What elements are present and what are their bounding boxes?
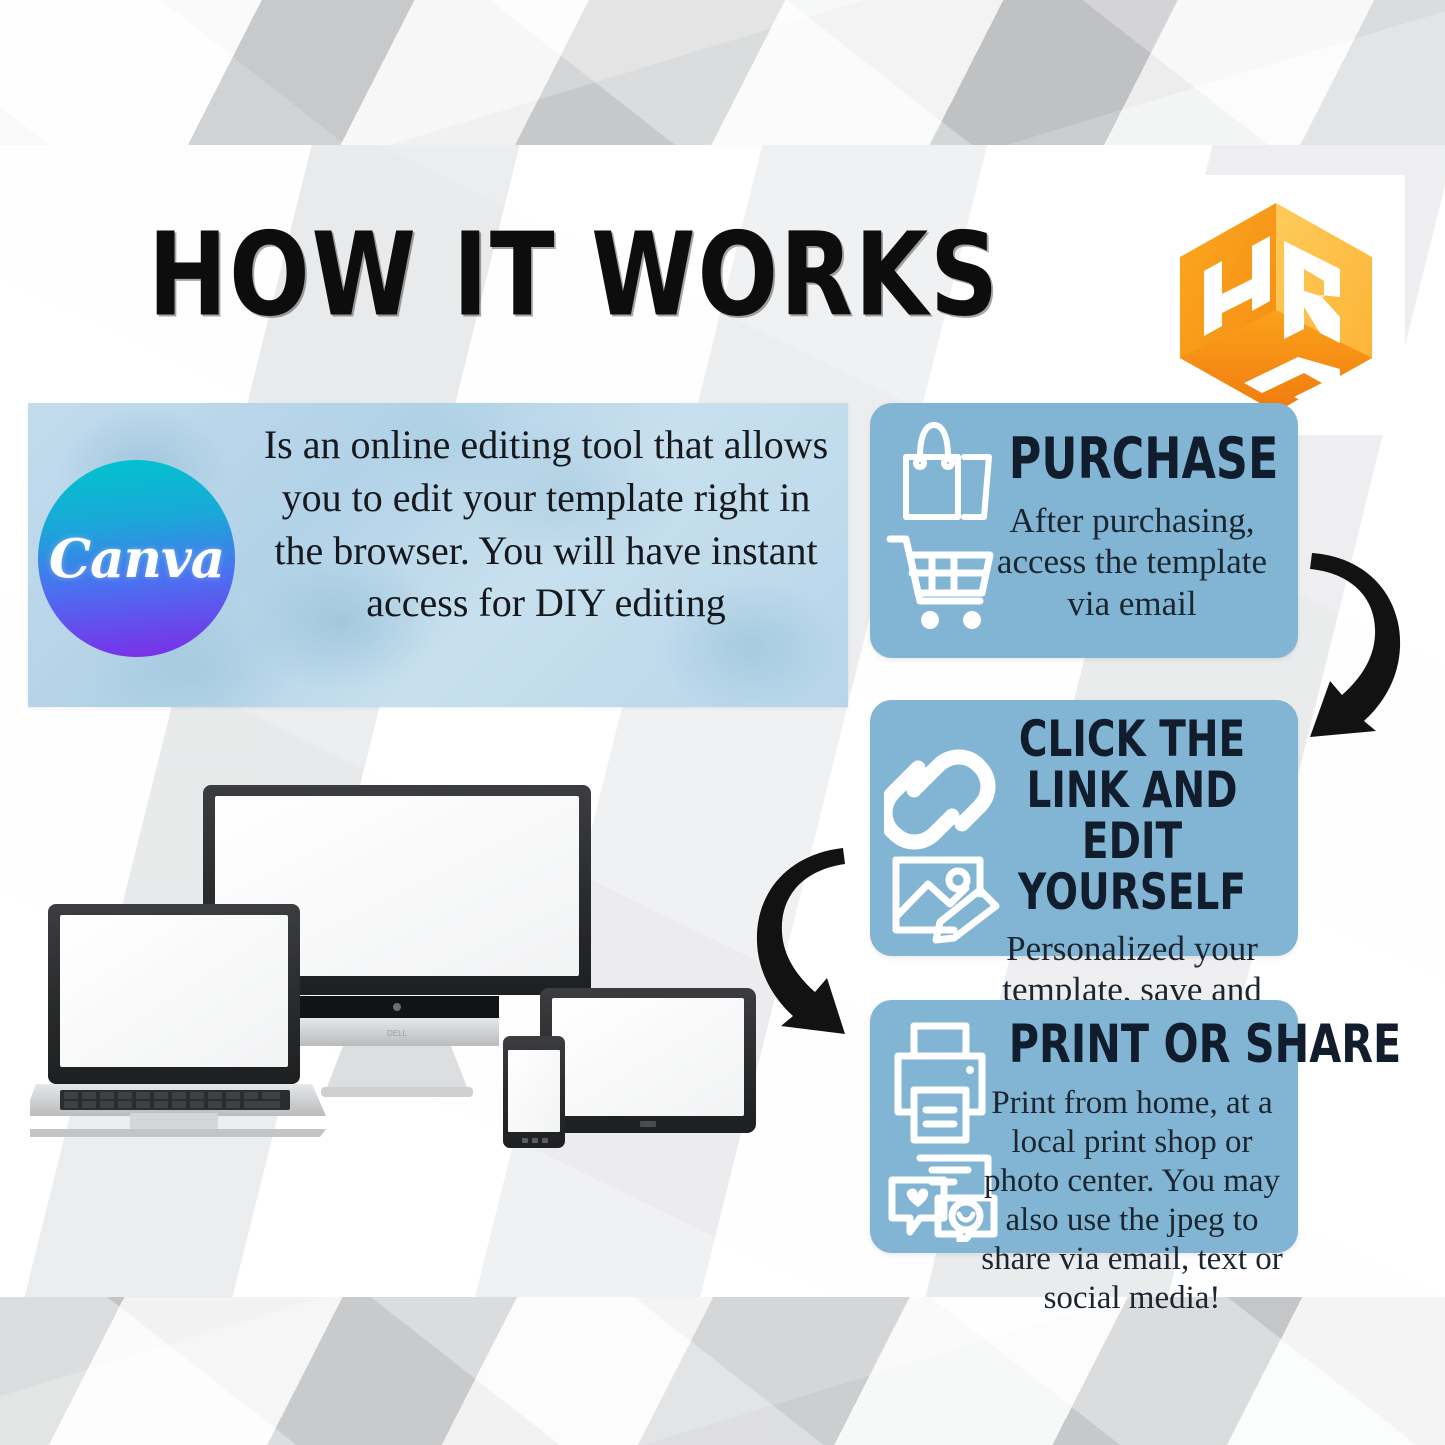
devices-illustration-icon: DELL — [30, 760, 770, 1180]
step-card-purchase[interactable]: PURCHASE After purchasing, access the te… — [870, 403, 1298, 658]
purchase-description: After purchasing, access the template vi… — [974, 488, 1290, 624]
step-card-edit[interactable]: CLICK THE LINK AND EDIT YOURSELF Persona… — [870, 700, 1298, 956]
hrg-cube-logo-icon — [1174, 197, 1379, 412]
canva-info-banner: Canva Is an online editing tool that all… — [28, 403, 848, 707]
print-body: PRINT OR SHARE Print from home, at a loc… — [974, 1000, 1290, 1318]
canva-logo-label: Canva — [49, 528, 224, 590]
curved-arrow-down-right-icon — [745, 838, 865, 1043]
curved-arrow-down-left-icon — [1290, 535, 1420, 750]
canva-logo: Canva — [38, 460, 235, 657]
devices-mockup: DELL — [30, 760, 770, 1180]
poster-canvas: HOW IT WORKS — [0, 0, 1445, 1445]
link-chain-icon — [885, 757, 988, 842]
page-title: HOW IT WORKS — [148, 218, 1000, 333]
canva-description: Is an online editing tool that allows yo… — [256, 419, 836, 630]
edit-heading: CLICK THE LINK AND EDIT YOURSELF — [1009, 700, 1255, 918]
svg-text:DELL: DELL — [387, 1029, 408, 1038]
printer-icon — [898, 1026, 982, 1140]
brand-logo-box — [1148, 175, 1405, 435]
purchase-heading: PURCHASE — [1009, 403, 1255, 488]
print-heading: PRINT OR SHARE — [1009, 1000, 1255, 1072]
print-description: Print from home, at a local print shop o… — [974, 1072, 1290, 1318]
purchase-body: PURCHASE After purchasing, access the te… — [974, 403, 1290, 624]
step-card-print[interactable]: PRINT OR SHARE Print from home, at a loc… — [870, 1000, 1298, 1253]
